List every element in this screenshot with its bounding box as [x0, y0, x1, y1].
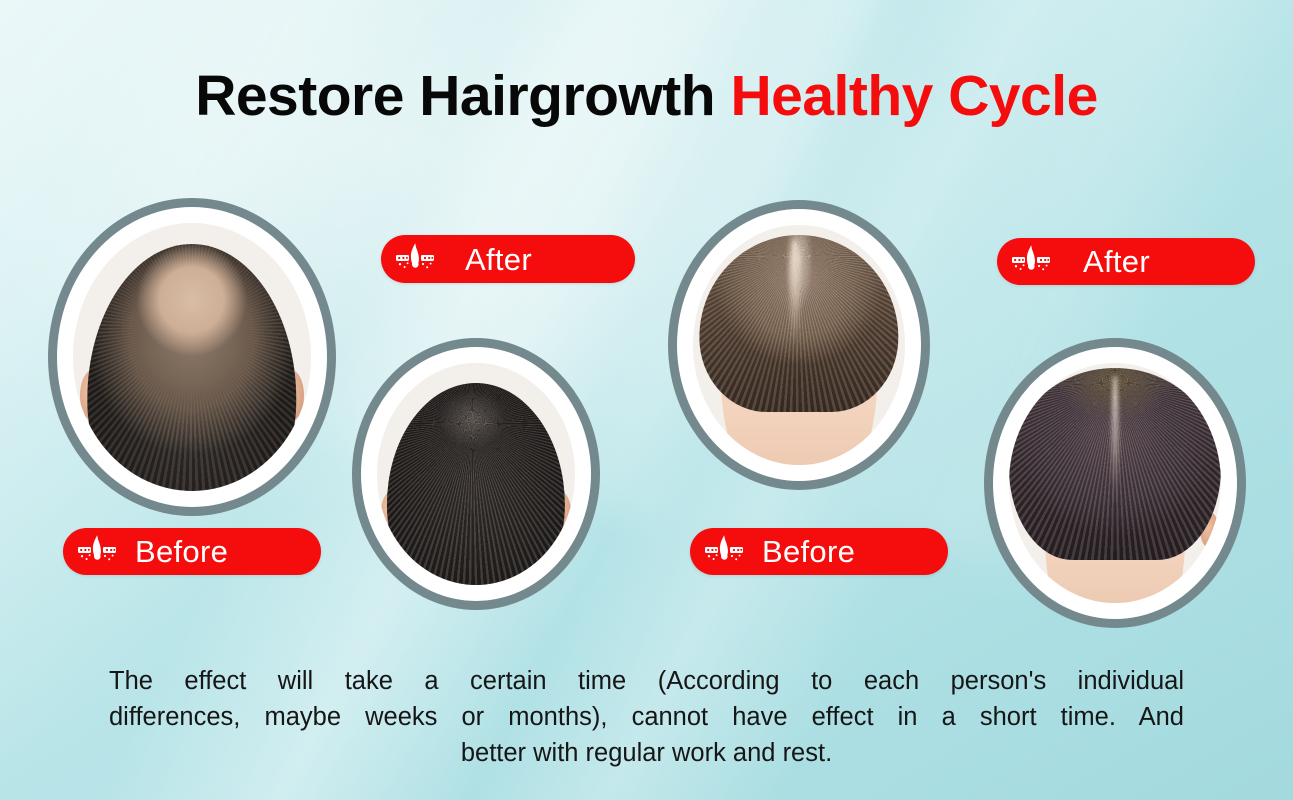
title-part-dark: Restore Hairgrowth	[195, 64, 715, 128]
caption-line-1: The effect will take a certain time (Acc…	[109, 663, 1184, 699]
title-part-red: Healthy Cycle	[730, 64, 1097, 128]
photo-female-before	[668, 200, 930, 490]
hair-follicle-icon	[395, 242, 435, 277]
photo-male-before-image	[73, 223, 311, 491]
female-thinning-hair-illustration	[693, 225, 905, 465]
badge-label: After	[465, 244, 532, 275]
hair-part-line	[789, 239, 800, 345]
disclaimer-caption: The effect will take a certain time (Acc…	[109, 663, 1184, 772]
hair-follicle-icon	[77, 534, 117, 569]
hair-follicle-icon	[704, 534, 744, 569]
photo-female-before-image	[693, 225, 905, 465]
photo-female-after	[984, 338, 1246, 628]
caption-line-3: better with regular work and rest.	[109, 735, 1184, 771]
banner-title: Restore Hairgrowth Healthy Cycle	[0, 68, 1293, 125]
hair-strands	[387, 383, 565, 585]
photo-female-after-image	[1009, 363, 1221, 603]
female-full-hair-illustration	[1009, 363, 1221, 603]
badge-female-after[interactable]: After	[997, 238, 1255, 285]
badge-male-before[interactable]: Before	[63, 528, 321, 575]
badge-female-before[interactable]: Before	[690, 528, 948, 575]
badge-label: After	[1083, 246, 1150, 277]
hair-strands	[87, 244, 296, 491]
badge-male-after[interactable]: After	[381, 235, 635, 283]
badge-label: Before	[762, 536, 855, 567]
hair-part-line	[1112, 375, 1119, 500]
male-full-hair-head-illustration	[377, 363, 575, 585]
photo-male-after	[352, 338, 600, 610]
caption-line-2: differences, maybe weeks or months), can…	[109, 699, 1184, 735]
hair-follicle-icon	[1011, 244, 1051, 279]
badge-label: Before	[135, 536, 228, 567]
hair-growth-promo-banner: Restore Hairgrowth Healthy Cycle	[0, 0, 1293, 800]
photo-male-after-image	[377, 363, 575, 585]
male-balding-head-illustration	[73, 223, 311, 491]
photo-male-before	[48, 198, 336, 516]
